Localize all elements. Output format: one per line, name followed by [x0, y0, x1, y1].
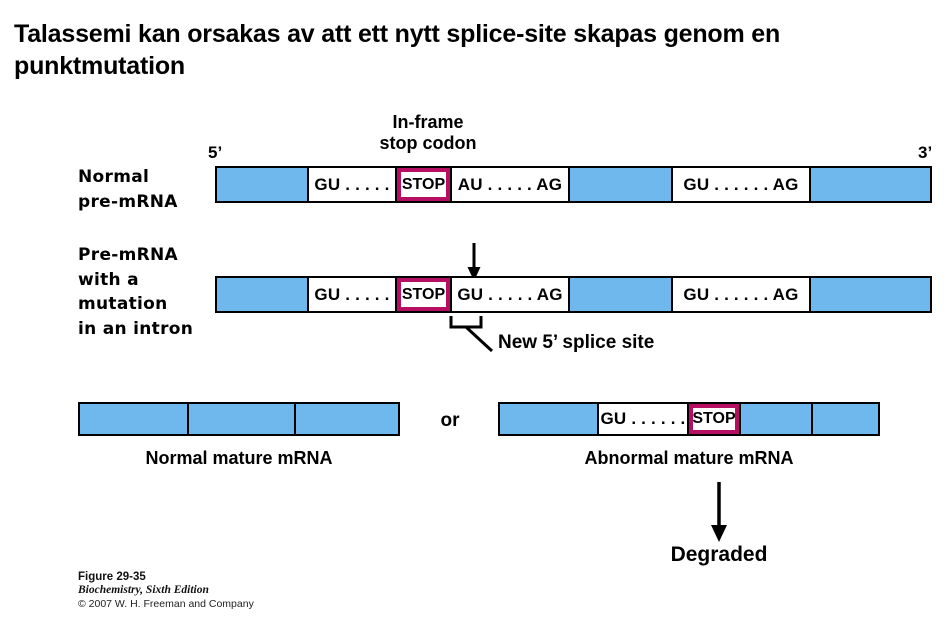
row-label-line3: mutation — [78, 292, 218, 317]
row-label-mutant-pre-mrna: Pre-mRNA with a mutation in an intron — [78, 243, 218, 342]
row-label-normal-pre-mrna: Normal pre-mRNA — [78, 165, 213, 214]
row-label-line1: Normal — [78, 165, 213, 190]
segment-exon-1 — [80, 404, 187, 434]
segment-exon-2 — [568, 168, 671, 201]
five-prime-label-row1: 5’ — [208, 143, 222, 163]
segment-exon-1 — [500, 404, 597, 434]
segment-exon-3 — [809, 168, 930, 201]
row-label-line4: in an intron — [78, 317, 218, 342]
segment-stop-codon: STOP — [687, 404, 739, 434]
segment-exon-2 — [187, 404, 294, 434]
three-prime-label-row1: 3’ — [918, 143, 932, 163]
segment-intron-1: GU . . . . . — [307, 168, 395, 201]
in-frame-stop-codon-line2: stop codon — [348, 133, 508, 154]
in-frame-stop-codon-label: In-frame stop codon — [348, 112, 508, 154]
segment-exon-1 — [217, 168, 307, 201]
segment-intron-new-splice: GU . . . . . AG — [450, 278, 568, 311]
segment-intron-3: GU . . . . . . AG — [671, 278, 809, 311]
abnormal-mature-mrna-bar: GU . . . . . . STOP — [498, 402, 880, 436]
row-label-line2: with a — [78, 268, 218, 293]
new-splice-site-label: New 5’ splice site — [498, 332, 654, 354]
pre-mrna-mutant-bar: GU . . . . . STOP GU . . . . . AG GU . .… — [215, 276, 932, 313]
figure-copyright: © 2007 W. H. Freeman and Company — [78, 598, 254, 610]
or-label: or — [430, 410, 470, 432]
row-label-line1: Pre-mRNA — [78, 243, 218, 268]
figure-canvas: Talassemi kan orsakas av att ett nytt sp… — [0, 0, 948, 638]
degraded-label: Degraded — [619, 543, 819, 567]
segment-exon-3 — [811, 404, 878, 434]
segment-intron-3: GU . . . . . . AG — [671, 168, 809, 201]
figure-credit: Figure 29-35 Biochemistry, Sixth Edition… — [78, 571, 254, 610]
segment-exon-2 — [568, 278, 671, 311]
figure-number: Figure 29-35 — [78, 571, 254, 583]
segment-intron-1: GU . . . . . — [307, 278, 395, 311]
page-title: Talassemi kan orsakas av att ett nytt sp… — [14, 18, 924, 82]
segment-intron-2: AU . . . . . AG — [450, 168, 568, 201]
in-frame-stop-codon-line1: In-frame — [348, 112, 508, 133]
degradation-arrow — [706, 482, 732, 542]
segment-exon-3 — [809, 278, 930, 311]
segment-intron-retained: GU . . . . . . — [597, 404, 687, 434]
pre-mrna-normal-bar: GU . . . . . STOP AU . . . . . AG GU . .… — [215, 166, 932, 203]
segment-stop-codon: STOP — [395, 168, 450, 201]
figure-book-title: Biochemistry, Sixth Edition — [78, 584, 254, 596]
segment-exon-1 — [217, 278, 307, 311]
segment-exon-3 — [294, 404, 398, 434]
normal-mature-mrna-bar — [78, 402, 400, 436]
segment-exon-2 — [739, 404, 811, 434]
row-label-line2: pre-mRNA — [78, 190, 213, 215]
normal-mature-mrna-caption: Normal mature mRNA — [78, 448, 400, 469]
segment-stop-codon: STOP — [395, 278, 450, 311]
abnormal-mature-mrna-caption: Abnormal mature mRNA — [498, 448, 880, 469]
